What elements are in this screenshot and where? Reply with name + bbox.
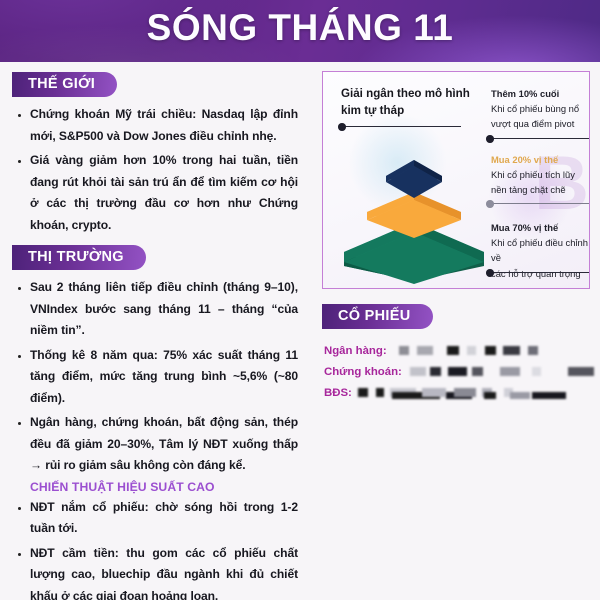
list-item: Chứng khoán Mỹ trái chiều: Nasdaq lập đỉ…: [14, 104, 298, 147]
stock-list: Ngân hàng: Chứng khoán:: [324, 343, 600, 400]
subheading-chien-thuat: CHIẾN THUẬT HIỆU SUẤT CAO: [30, 480, 298, 494]
redacted-tickers-ngan-hang: [393, 344, 600, 357]
annotation-lead: Mua 70% vị thế: [491, 220, 590, 235]
pyramid-graphic: [339, 134, 489, 284]
list-item: Thống kê 8 năm qua: 75% xác suất tháng 1…: [14, 345, 298, 410]
stock-section: CỔ PHIẾU Ngân hàng: Chứng khoán:: [310, 304, 600, 406]
annotation-line: vượt qua điểm pivot: [491, 116, 587, 131]
pyramid-diagram-card: B Giải ngân theo mô hình kim tự tháp: [322, 71, 590, 289]
annotation-middle-tier: Mua 20% vị thế Khi cổ phiếu tích lũy nền…: [491, 152, 587, 198]
section-header-co-phieu: CỔ PHIẾU: [322, 304, 600, 329]
right-column: B Giải ngân theo mô hình kim tự tháp: [310, 62, 600, 600]
left-column: THẾ GIỚI Chứng khoán Mỹ trái chiều: Nasd…: [0, 62, 310, 600]
rule-line: [489, 138, 589, 139]
annotation-line: các hỗ trợ quan trọng: [491, 266, 590, 281]
rule-dot: [486, 269, 494, 277]
annotation-line: Khi cổ phiếu tích lũy: [491, 167, 587, 182]
list-item: BĐS:: [324, 385, 600, 400]
badge-thi-truong: THỊ TRƯỜNG: [12, 245, 146, 270]
annotation-line: Khi cổ phiếu bùng nổ: [491, 101, 587, 116]
list-item: NĐT cầm tiền: thu gom các cổ phiếu chất …: [14, 543, 298, 600]
section-header-the-gioi: THẾ GIỚI: [12, 72, 298, 97]
badge-co-phieu: CỔ PHIẾU: [322, 304, 433, 329]
list-item: Ngân hàng, chứng khoán, bất động sản, th…: [14, 412, 298, 477]
section-header-thi-truong: THỊ TRƯỜNG: [12, 245, 298, 270]
thi-truong-bullet-list-top: Sau 2 tháng liên tiếp điều chỉnh (tháng …: [14, 277, 298, 477]
rule-dot: [338, 123, 346, 131]
rule-line: [489, 203, 589, 204]
list-item: NĐT nắm cổ phiếu: chờ sóng hồi trong 1-2…: [14, 497, 298, 540]
pyramid-icon: [339, 134, 489, 284]
annotation-line: nền tảng chặt chẽ: [491, 182, 587, 197]
list-item: Chứng khoán:: [324, 364, 600, 379]
stock-label-bds: BĐS:: [324, 387, 352, 399]
annotation-lead: Mua 20% vị thế: [491, 152, 587, 167]
redacted-tickers-chung-khoan: [408, 365, 600, 378]
stock-label-chung-khoan: Chứng khoán:: [324, 366, 402, 378]
annotation-top-tier: Thêm 10% cuối Khi cổ phiếu bùng nổ vượt …: [491, 86, 587, 132]
rule-line: [341, 126, 461, 127]
badge-the-gioi: THẾ GIỚI: [12, 72, 117, 97]
stock-label-ngan-hang: Ngân hàng:: [324, 345, 387, 357]
thi-truong-bullet-list-bottom: NĐT nắm cổ phiếu: chờ sóng hồi trong 1-2…: [14, 497, 298, 600]
rule-dot: [486, 200, 494, 208]
the-gioi-bullet-list: Chứng khoán Mỹ trái chiều: Nasdaq lập đỉ…: [14, 104, 298, 236]
page-header: SÓNG THÁNG 11: [0, 0, 600, 62]
redacted-tickers-bds: [358, 386, 600, 399]
list-item: Giá vàng giảm hơn 10% trong hai tuần, ti…: [14, 150, 298, 236]
annotation-line: Khi cổ phiếu điều chỉnh về: [491, 235, 590, 265]
annotation-lead: Thêm 10% cuối: [491, 86, 587, 101]
page-title: SÓNG THÁNG 11: [0, 7, 600, 49]
diagram-title: Giải ngân theo mô hình kim tự tháp: [341, 86, 473, 120]
rule-line: [489, 272, 589, 273]
list-item: Sau 2 tháng liên tiếp điều chỉnh (tháng …: [14, 277, 298, 342]
list-item: Ngân hàng:: [324, 343, 600, 358]
rule-dot: [486, 135, 494, 143]
